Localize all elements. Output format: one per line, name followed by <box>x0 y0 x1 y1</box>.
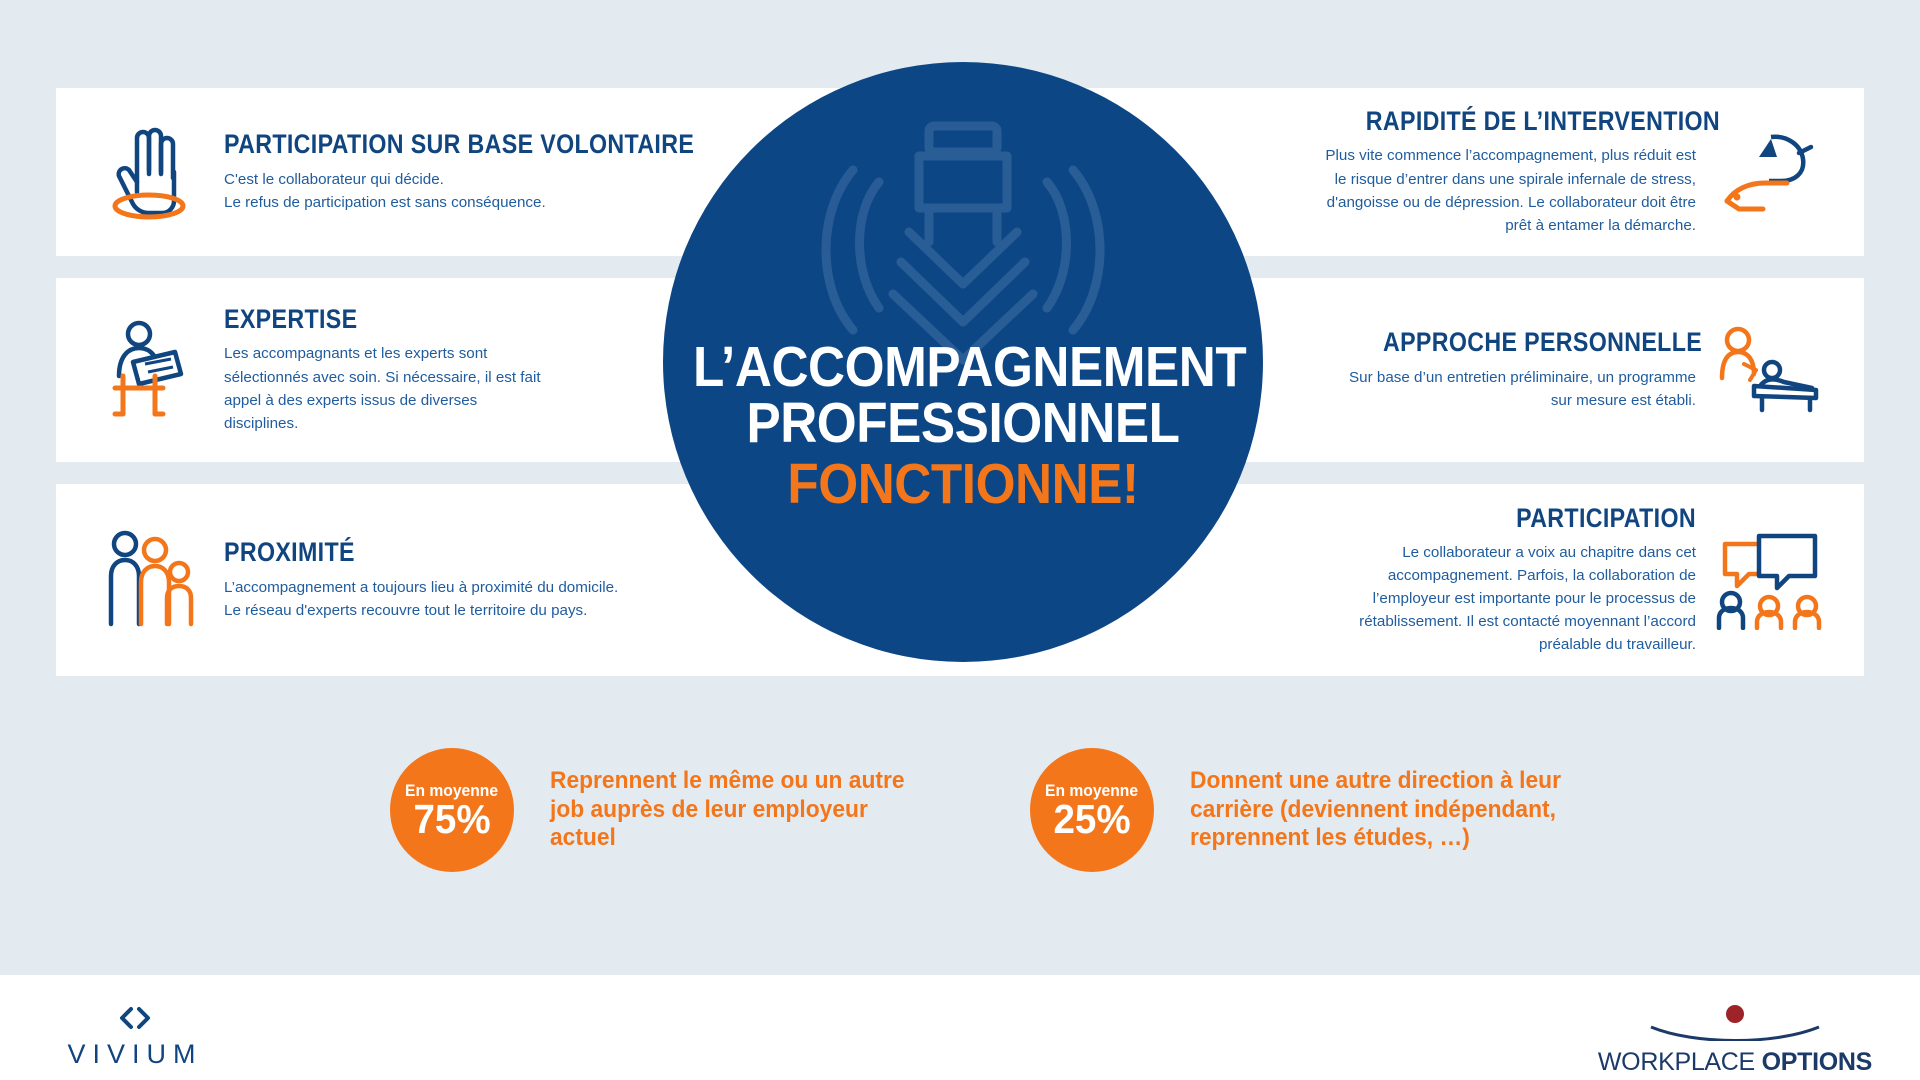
dove-in-hand-icon <box>1714 117 1824 227</box>
feature-body: Le collaborateur a voix au chapitre dans… <box>1312 541 1696 656</box>
vivium-logo: VIVIUM <box>60 1005 210 1070</box>
feature-text: PROXIMITÉ L’accompagnement a toujours li… <box>206 538 636 622</box>
stat-circle: En moyenne 25% <box>1030 748 1154 872</box>
family-group-icon <box>96 525 206 635</box>
feature-body: Les accompagnants et les experts sont sé… <box>224 342 548 434</box>
feature-proximite: PROXIMITÉ L’accompagnement a toujours li… <box>56 484 736 676</box>
center-title-line1: L’ACCOMPAGNEMENT <box>693 340 1233 396</box>
center-title-line3: FONCTIONNE! <box>693 455 1233 513</box>
stat-percent: 75% <box>413 799 490 840</box>
stat-block-75: En moyenne 75% Reprennent le même ou un … <box>390 748 931 872</box>
wpo-arc-dot-icon <box>1645 1028 1825 1045</box>
vivium-wordmark: VIVIUM <box>60 1039 210 1070</box>
feature-participation-volontaire: PARTICIPATION SUR BASE VOLONTAIRE C'est … <box>56 88 736 256</box>
stat-circle: En moyenne 75% <box>390 748 514 872</box>
expert-presenter-icon <box>96 315 206 425</box>
feature-text: PARTICIPATION SUR BASE VOLONTAIRE C'est … <box>206 130 789 214</box>
feature-approche-personnelle: APPROCHE PERSONNELLE Sur base d’un entre… <box>1184 278 1864 462</box>
feature-text: RAPIDITÉ DE L’INTERVENTION Plus vite com… <box>1294 107 1714 237</box>
feature-text: EXPERTISE Les accompagnants et les exper… <box>206 305 566 435</box>
feature-rapidite-intervention: RAPIDITÉ DE L’INTERVENTION Plus vite com… <box>1184 88 1864 256</box>
feature-body: Sur base d’un entretien préliminaire, un… <box>1332 366 1696 412</box>
feature-heading: PARTICIPATION <box>1366 504 1696 532</box>
feature-heading: PROXIMITÉ <box>224 538 563 566</box>
feature-body: Plus vite commence l’accompagnement, plu… <box>1312 144 1696 236</box>
feature-expertise: EXPERTISE Les accompagnants et les exper… <box>56 278 736 462</box>
feature-body: C'est le collaborateur qui décide. Le re… <box>224 168 771 214</box>
wpo-word-options: OPTIONS <box>1762 1048 1872 1076</box>
stat-block-25: En moyenne 25% Donnent une autre directi… <box>1030 748 1589 872</box>
workplace-options-logo: WORKPLACE OPTIONS <box>1598 1005 1872 1077</box>
center-title: L’ACCOMPAGNEMENT PROFESSIONNEL FONCTIONN… <box>663 340 1263 513</box>
therapy-couch-icon <box>1714 315 1824 425</box>
feature-heading: RAPIDITÉ DE L’INTERVENTION <box>1366 107 1696 135</box>
feature-participation: PARTICIPATION Le collaborateur a voix au… <box>1184 484 1864 676</box>
stat-description: Reprennent le même ou un autre job auprè… <box>550 767 905 852</box>
feature-text: APPROCHE PERSONNELLE Sur base d’un entre… <box>1314 328 1714 412</box>
center-emblem: L’ACCOMPAGNEMENT PROFESSIONNEL FONCTIONN… <box>663 62 1263 662</box>
center-title-line2: PROFESSIONNEL <box>693 396 1233 452</box>
feature-heading: APPROCHE PERSONNELLE <box>1383 328 1696 356</box>
feature-heading: PARTICIPATION SUR BASE VOLONTAIRE <box>224 130 694 158</box>
speech-bubbles-people-icon <box>1714 525 1824 635</box>
wpo-word-workplace: WORKPLACE <box>1598 1048 1762 1076</box>
feature-text: PARTICIPATION Le collaborateur a voix au… <box>1294 504 1714 657</box>
wpo-wordmark: WORKPLACE OPTIONS <box>1598 1048 1872 1077</box>
feature-body: L’accompagnement a toujours lieu à proxi… <box>224 576 618 622</box>
stat-percent: 25% <box>1053 799 1130 840</box>
vivium-chevron-icon <box>115 1018 155 1035</box>
stat-description: Donnent une autre direction à leur carri… <box>1190 767 1561 852</box>
raised-hand-icon <box>96 117 206 227</box>
feature-heading: EXPERTISE <box>224 305 503 333</box>
